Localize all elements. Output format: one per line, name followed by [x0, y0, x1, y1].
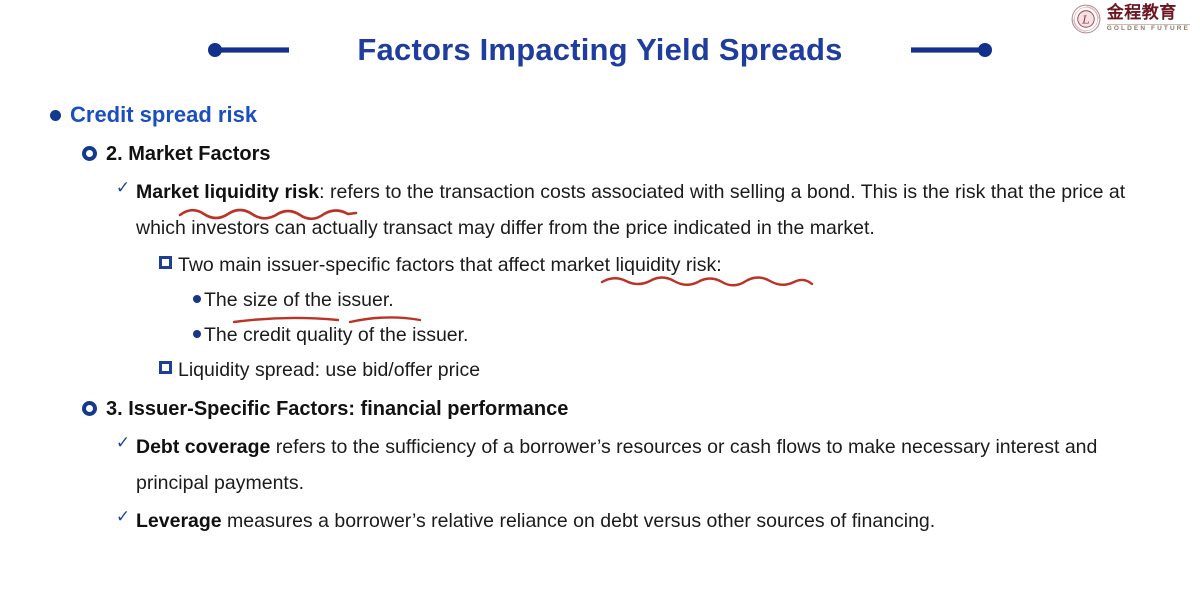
- section-heading-market-factors: 2. Market Factors: [0, 140, 1200, 168]
- section-heading-issuer-specific-factors: 3. Issuer-Specific Factors: financial pe…: [0, 395, 1200, 423]
- credit-quality-of-issuer-text: The credit quality of the issuer.: [204, 318, 1200, 352]
- item-credit-quality-of-issuer: The credit quality of the issuer.: [0, 318, 1200, 352]
- bullet-credit-spread-risk: Credit spread risk: [0, 100, 1200, 130]
- leverage-text: Leverage measures a borrower’s relative …: [136, 503, 1146, 539]
- item-size-of-issuer: The size of the issuer.: [0, 283, 1200, 317]
- line-dot-ornament-left: [207, 40, 297, 60]
- svg-text:L: L: [1081, 14, 1089, 27]
- slide-content: Credit spread risk 2. Market Factors ✓ M…: [0, 100, 1200, 541]
- check-bullet-icon: ✓: [110, 429, 136, 452]
- debt-coverage-text: Debt coverage refers to the sufficiency …: [136, 429, 1146, 501]
- ring-bullet-icon: [72, 140, 106, 161]
- debt-coverage-rest: refers to the sufficiency of a borrower’…: [136, 436, 1097, 494]
- check-bullet-icon: ✓: [110, 503, 136, 526]
- logo-chinese-name: 金程教育: [1107, 5, 1177, 22]
- two-main-factors-text: Two main issuer-specific factors that af…: [178, 248, 1200, 282]
- small-dot-bullet-icon: [190, 318, 204, 338]
- dot-line-ornament-right: [903, 40, 993, 60]
- square-bullet-icon: [152, 353, 178, 374]
- item-liquidity-spread: Liquidity spread: use bid/offer price: [0, 353, 1200, 387]
- page-title: Factors Impacting Yield Spreads: [297, 32, 902, 68]
- ring-bullet-icon: [72, 395, 106, 416]
- section3-heading-label: 3. Issuer-Specific Factors: financial pe…: [106, 395, 1200, 423]
- item-market-liquidity-risk: ✓ Market liquidity risk: refers to the t…: [0, 174, 1200, 246]
- market-liquidity-risk-lead: Market liquidity risk: [136, 181, 319, 203]
- check-bullet-icon: ✓: [110, 174, 136, 197]
- credit-spread-risk-label: Credit spread risk: [70, 100, 1200, 130]
- brand-logo: L 金程教育 GOLDEN FUTURE: [1071, 4, 1190, 34]
- item-two-main-factors: Two main issuer-specific factors that af…: [0, 248, 1200, 282]
- section2-heading-label: 2. Market Factors: [106, 140, 1200, 168]
- item-debt-coverage: ✓ Debt coverage refers to the sufficienc…: [0, 429, 1200, 501]
- square-bullet-icon: [152, 248, 178, 269]
- leverage-lead: Leverage: [136, 510, 222, 532]
- title-row: Factors Impacting Yield Spreads: [0, 32, 1200, 68]
- item-leverage: ✓ Leverage measures a borrower’s relativ…: [0, 503, 1200, 539]
- liquidity-spread-text: Liquidity spread: use bid/offer price: [178, 353, 1200, 387]
- circular-seal-icon: L: [1071, 4, 1101, 34]
- market-liquidity-risk-text: Market liquidity risk: refers to the tra…: [136, 174, 1146, 246]
- small-dot-bullet-icon: [190, 283, 204, 303]
- leverage-rest: measures a borrower’s relative reliance …: [222, 510, 936, 532]
- size-of-issuer-text: The size of the issuer.: [204, 283, 1200, 317]
- filled-circle-bullet-icon: [40, 100, 70, 121]
- debt-coverage-lead: Debt coverage: [136, 436, 270, 458]
